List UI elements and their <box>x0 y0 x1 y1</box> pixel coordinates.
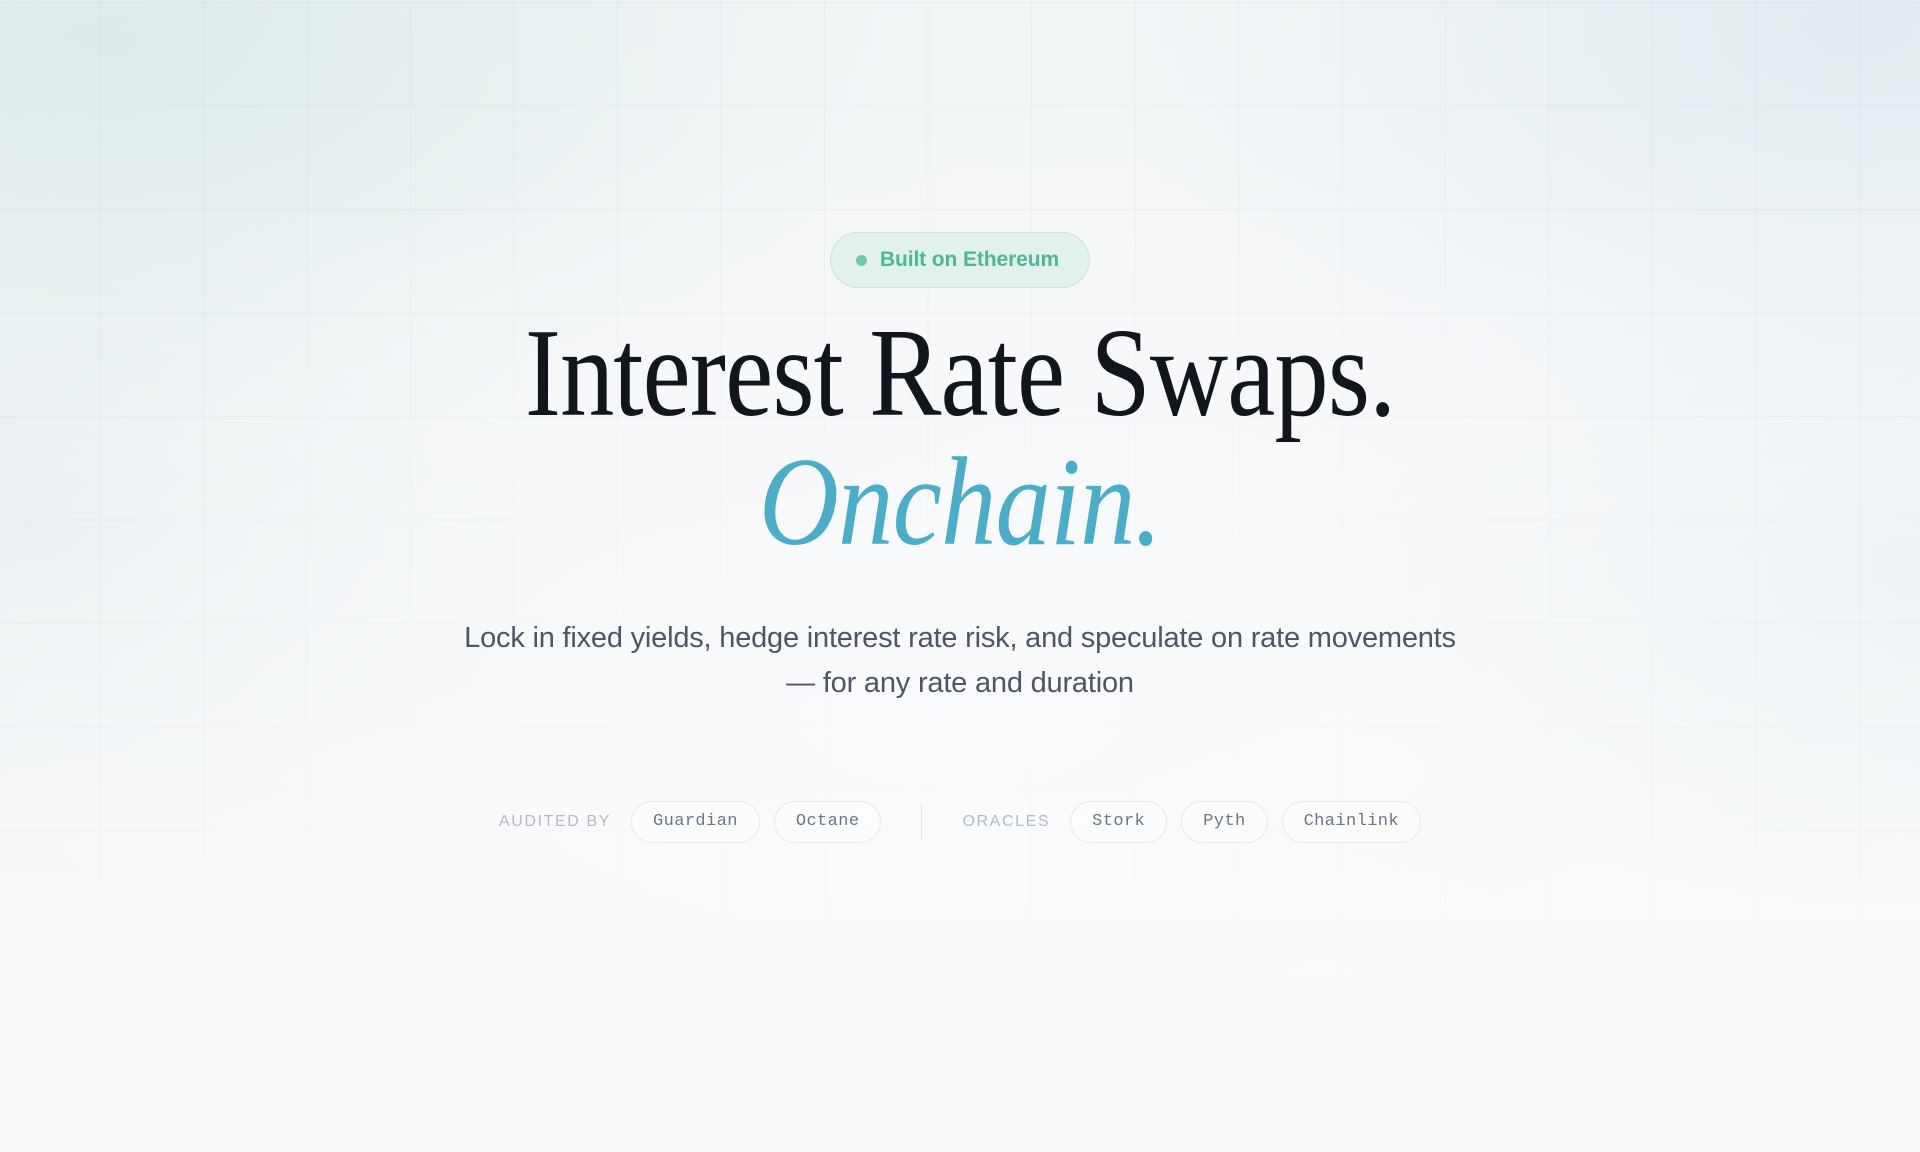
hero-section: Built on Ethereum Interest Rate Swaps. O… <box>0 0 1920 1152</box>
trust-divider <box>921 805 922 839</box>
oracle-pill-chainlink[interactable]: Chainlink <box>1282 801 1421 843</box>
trust-indicators-row: AUDITED BY Guardian Octane ORACLES Stork… <box>499 801 1421 843</box>
audited-by-label: AUDITED BY <box>499 813 611 831</box>
audited-by-group: AUDITED BY Guardian Octane <box>499 801 881 843</box>
auditor-pill-octane[interactable]: Octane <box>774 801 882 843</box>
hero-subtitle: Lock in fixed yields, hedge interest rat… <box>455 616 1465 706</box>
badge-label: Built on Ethereum <box>880 248 1059 272</box>
oracles-group: ORACLES Stork Pyth Chainlink <box>962 801 1421 843</box>
page-title: Interest Rate Swaps. Onchain. <box>454 308 1466 568</box>
headline-line-accent: Onchain. <box>515 437 1406 568</box>
built-on-ethereum-badge[interactable]: Built on Ethereum <box>830 232 1090 288</box>
oracles-label: ORACLES <box>962 813 1050 831</box>
headline-line-primary: Interest Rate Swaps. <box>525 308 1396 439</box>
auditor-pill-guardian[interactable]: Guardian <box>631 801 760 843</box>
oracle-pill-pyth[interactable]: Pyth <box>1181 801 1267 843</box>
status-dot-icon <box>856 255 867 266</box>
oracle-pill-stork[interactable]: Stork <box>1070 801 1167 843</box>
